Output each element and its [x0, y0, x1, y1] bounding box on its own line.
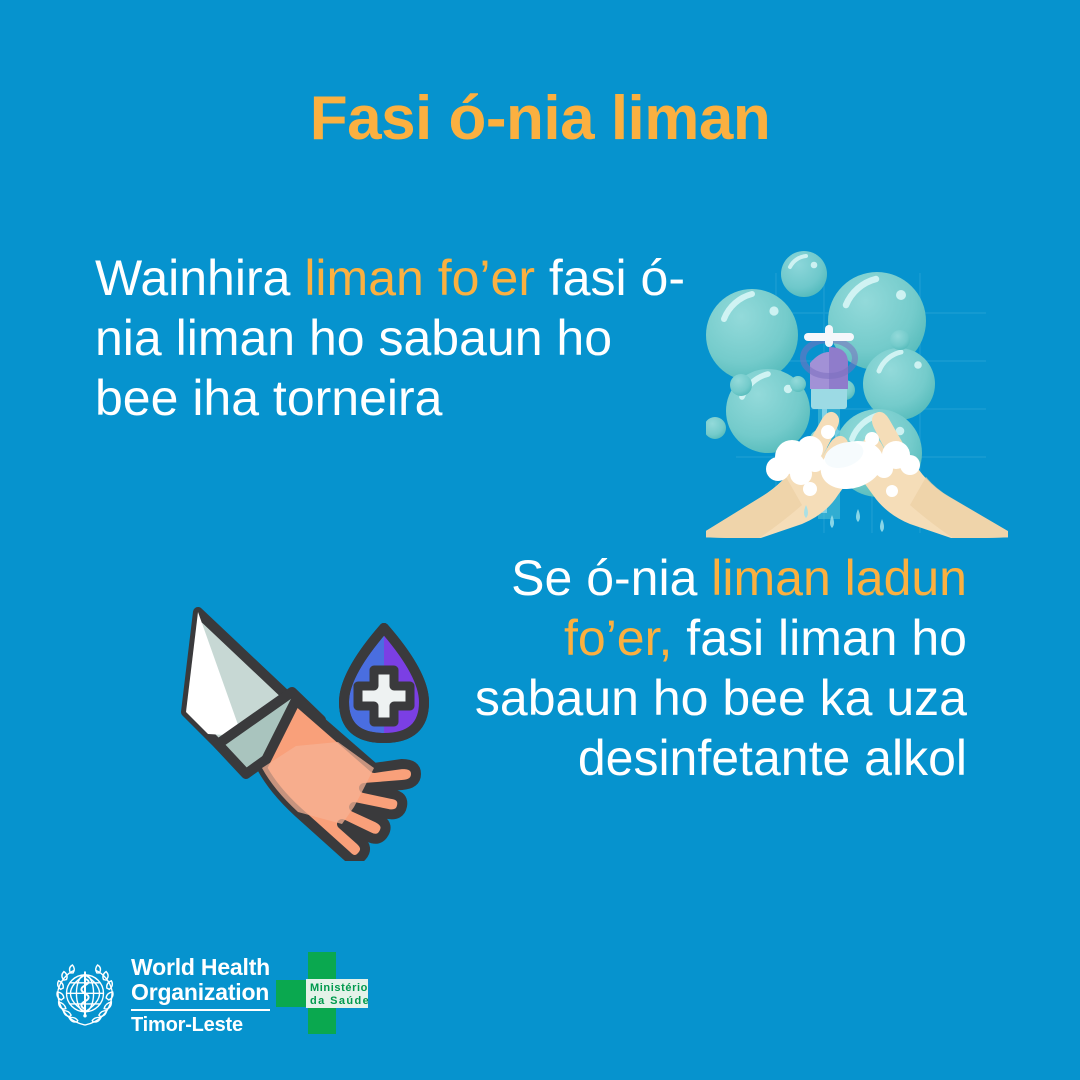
who-logo: World Health Organization Timor-Leste — [52, 955, 270, 1037]
message-block-wash-with-water: Wainhira liman fo’er fasi ó-nia liman ho… — [95, 248, 695, 428]
who-name-line2: Organization — [131, 980, 270, 1005]
message-right-text-2: fasi liman ho sabaun ho bee ka uza desin… — [475, 610, 967, 786]
message-left-text-1: Wainhira — [95, 250, 304, 306]
ministry-label-line1: Ministério — [310, 982, 368, 994]
who-emblem-icon — [52, 963, 118, 1029]
poster-canvas: Fasi ó-nia liman Wainhira liman fo’er fa… — [0, 0, 1080, 1080]
message-left-highlight: liman fo’er — [304, 250, 535, 306]
who-country-label: Timor-Leste — [131, 1014, 270, 1037]
who-wordmark: World Health Organization Timor-Leste — [131, 955, 270, 1037]
ministry-of-health-logo: Ministério da Saúde — [276, 952, 368, 1034]
sanitizer-hand-illustration — [178, 596, 443, 861]
who-name-line1: World Health — [131, 955, 270, 980]
who-divider — [131, 1009, 270, 1011]
handwashing-illustration — [706, 243, 1008, 538]
page-title: Fasi ó-nia liman — [0, 86, 1080, 151]
sanitizer-droplet-icon — [344, 628, 424, 738]
footer-logos: World Health Organization Timor-Leste Mi… — [0, 940, 1080, 1080]
message-right-text-1: Se ó-nia — [511, 550, 711, 606]
ministry-label-line2: da Saúde — [310, 995, 368, 1007]
message-block-use-sanitizer: Se ó-nia liman ladun fo’er, fasi liman h… — [430, 548, 967, 788]
